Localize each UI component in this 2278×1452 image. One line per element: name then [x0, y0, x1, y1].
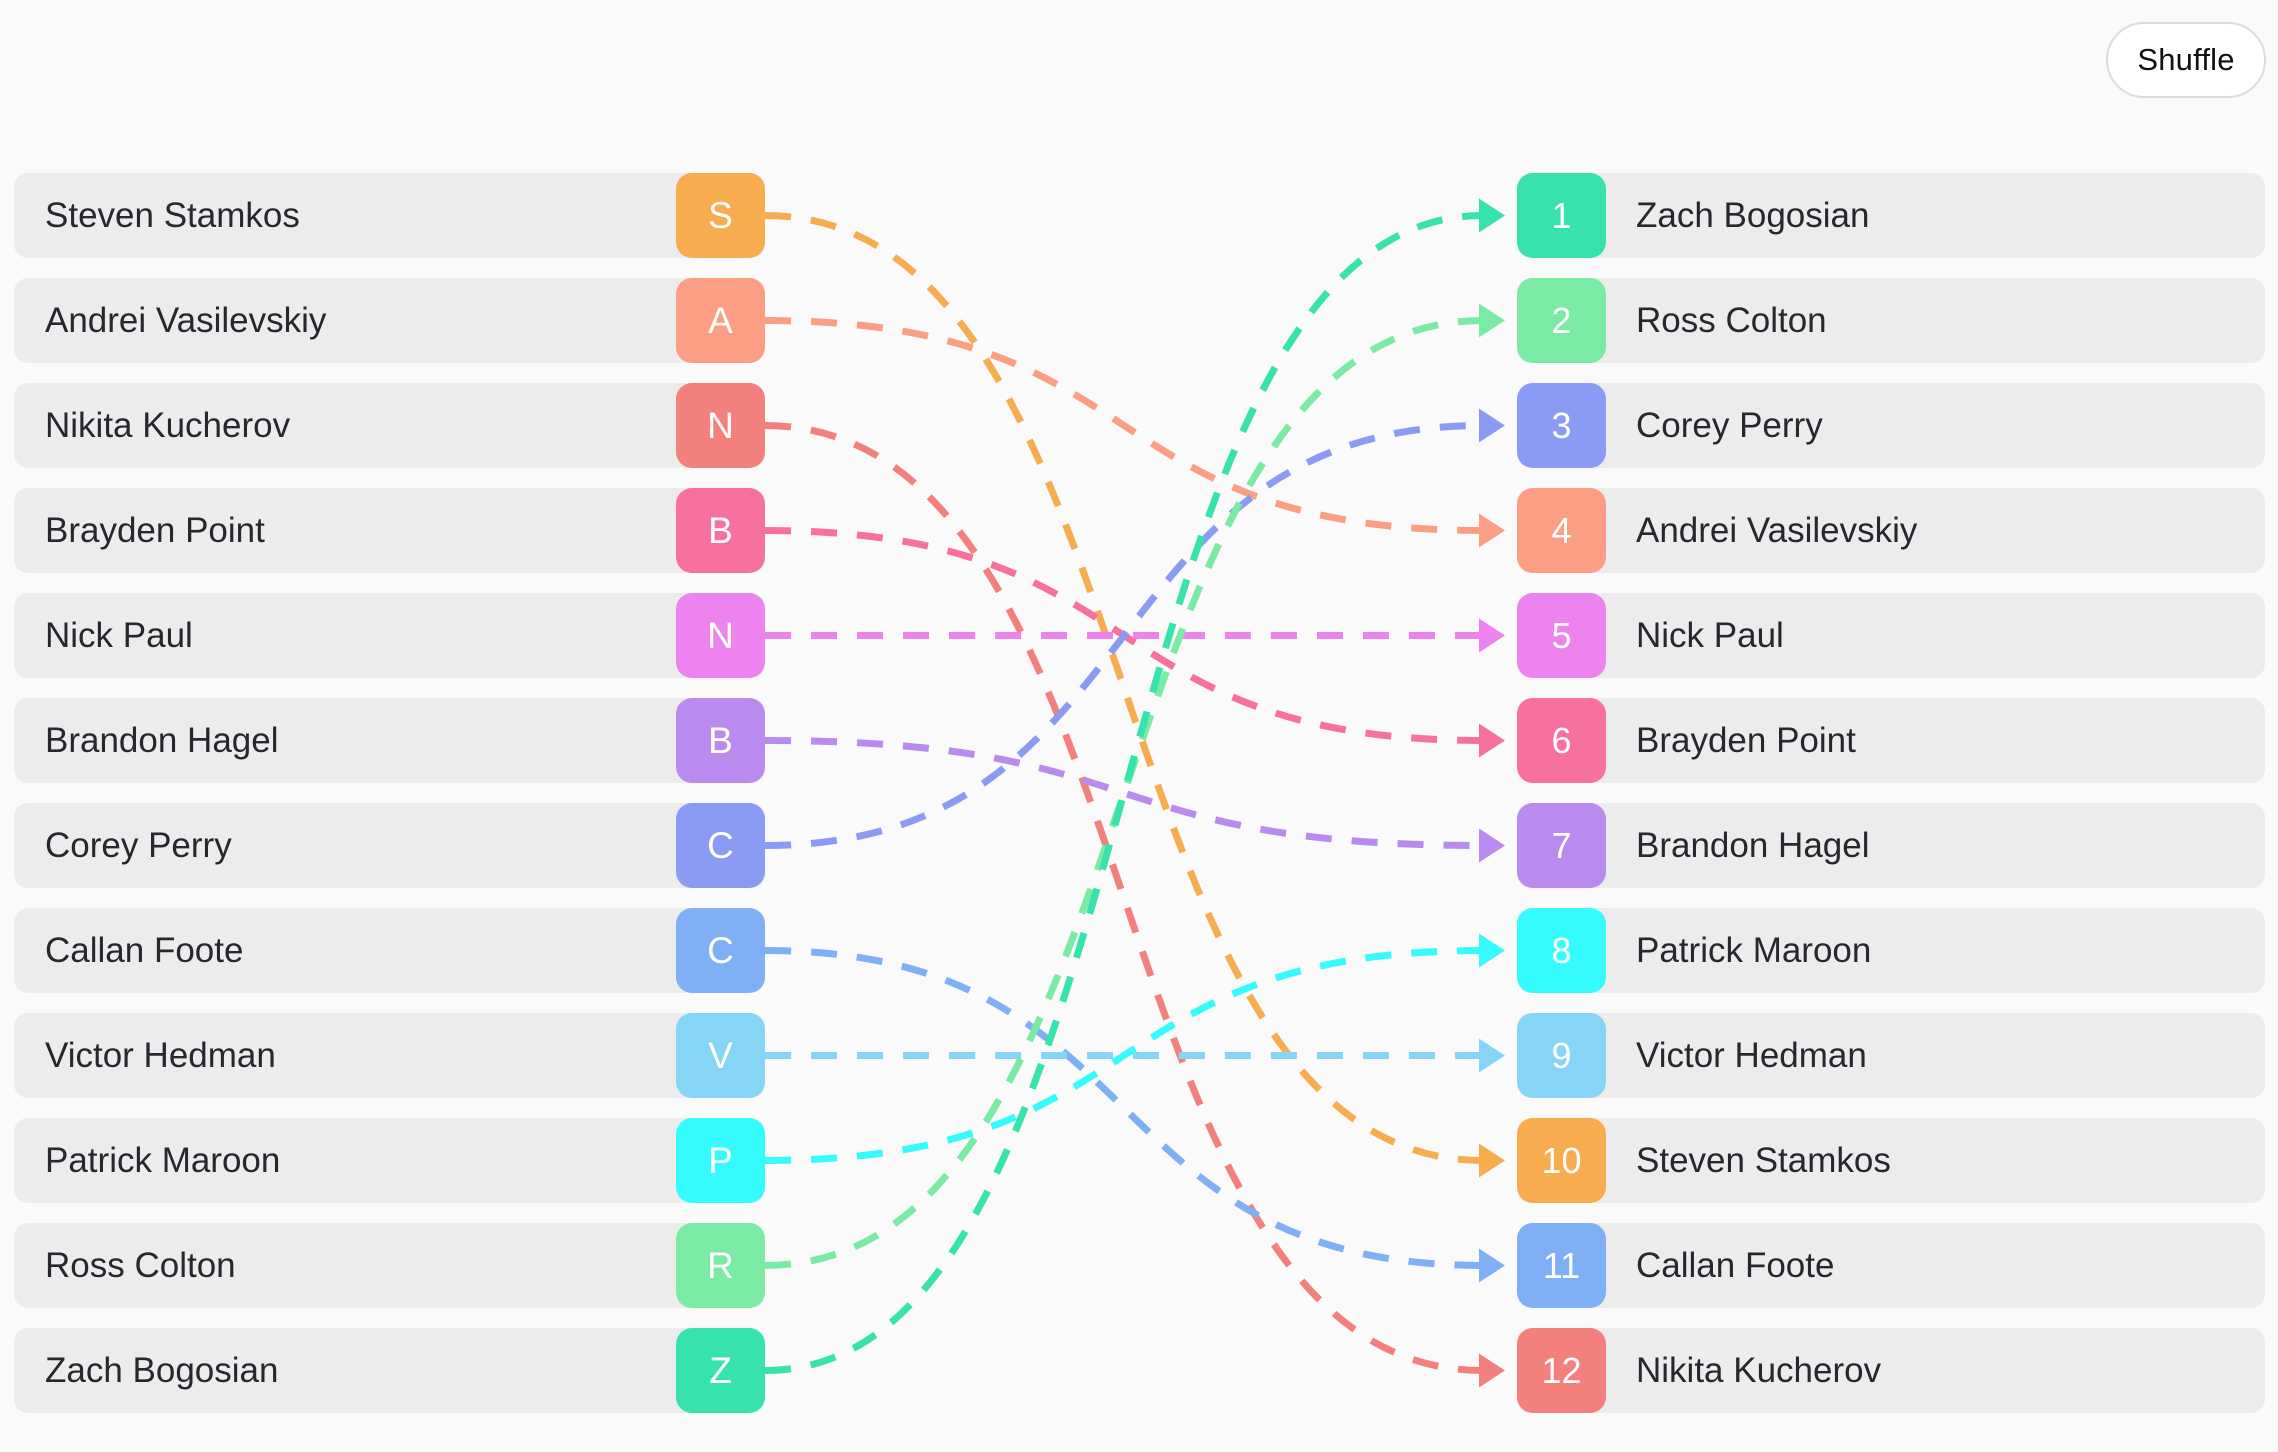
- connector-arrowhead: [1479, 619, 1505, 653]
- left-list-item[interactable]: Ross ColtonR: [14, 1223, 765, 1308]
- connector-arrowhead: [1479, 1354, 1505, 1388]
- left-item-name: Zach Bogosian: [45, 1353, 278, 1388]
- left-item-initial-badge[interactable]: Z: [676, 1328, 765, 1413]
- connector-line: [765, 426, 1483, 1371]
- left-item-initial-badge[interactable]: B: [676, 488, 765, 573]
- connector-arrowhead: [1479, 514, 1505, 548]
- left-item-initial-badge[interactable]: S: [676, 173, 765, 258]
- left-item-initial-badge[interactable]: A: [676, 278, 765, 363]
- left-list-item[interactable]: Brayden PointB: [14, 488, 765, 573]
- left-item-initial-badge[interactable]: V: [676, 1013, 765, 1098]
- right-item-name: Victor Hedman: [1636, 1038, 1867, 1073]
- left-item-name: Brandon Hagel: [45, 723, 279, 758]
- left-item-initial-badge[interactable]: P: [676, 1118, 765, 1203]
- connector-line: [765, 951, 1483, 1161]
- left-list-item[interactable]: Victor HedmanV: [14, 1013, 765, 1098]
- right-slot-list: 1Zach Bogosian2Ross Colton3Corey Perry4A…: [1517, 173, 2265, 1433]
- connector-line: [765, 426, 1483, 846]
- right-item-name: Nick Paul: [1636, 618, 1784, 653]
- right-list-item[interactable]: 11Callan Foote: [1517, 1223, 2265, 1308]
- connector-arrowhead: [1479, 304, 1505, 338]
- connector-line: [765, 951, 1483, 1266]
- connector-line: [765, 216, 1483, 1371]
- left-list-item[interactable]: Brandon HagelB: [14, 698, 765, 783]
- right-item-number-badge[interactable]: 11: [1517, 1223, 1606, 1308]
- left-list-item[interactable]: Steven StamkosS: [14, 173, 765, 258]
- right-list-item[interactable]: 10Steven Stamkos: [1517, 1118, 2265, 1203]
- right-list-item[interactable]: 12Nikita Kucherov: [1517, 1328, 2265, 1413]
- left-item-initial-badge[interactable]: C: [676, 803, 765, 888]
- right-item-name: Corey Perry: [1636, 408, 1823, 443]
- right-item-name: Patrick Maroon: [1636, 933, 1871, 968]
- right-item-name: Nikita Kucherov: [1636, 1353, 1881, 1388]
- left-list-item[interactable]: Zach BogosianZ: [14, 1328, 765, 1413]
- right-item-number-badge[interactable]: 2: [1517, 278, 1606, 363]
- left-item-name: Ross Colton: [45, 1248, 236, 1283]
- right-list-item[interactable]: 3Corey Perry: [1517, 383, 2265, 468]
- left-item-initial-badge[interactable]: C: [676, 908, 765, 993]
- right-item-number-badge[interactable]: 5: [1517, 593, 1606, 678]
- connector-arrowhead: [1479, 199, 1505, 233]
- left-item-name: Andrei Vasilevskiy: [45, 303, 326, 338]
- right-list-item[interactable]: 6Brayden Point: [1517, 698, 2265, 783]
- right-list-item[interactable]: 9Victor Hedman: [1517, 1013, 2265, 1098]
- right-item-name: Brandon Hagel: [1636, 828, 1870, 863]
- right-item-number-badge[interactable]: 3: [1517, 383, 1606, 468]
- matching-board: Shuffle Steven StamkosSAndrei Vasilevski…: [0, 0, 2278, 1452]
- left-item-initial-badge[interactable]: R: [676, 1223, 765, 1308]
- right-list-item[interactable]: 2Ross Colton: [1517, 278, 2265, 363]
- connector-line: [765, 741, 1483, 846]
- right-item-number-badge[interactable]: 7: [1517, 803, 1606, 888]
- right-item-number-badge[interactable]: 4: [1517, 488, 1606, 573]
- connector-arrowhead: [1479, 1039, 1505, 1073]
- left-list-item[interactable]: Corey PerryC: [14, 803, 765, 888]
- left-name-list: Steven StamkosSAndrei VasilevskiyANikita…: [14, 173, 765, 1433]
- shuffle-button[interactable]: Shuffle: [2106, 22, 2266, 98]
- shuffle-button-label: Shuffle: [2137, 42, 2234, 78]
- right-list-item[interactable]: 5Nick Paul: [1517, 593, 2265, 678]
- right-list-item[interactable]: 7Brandon Hagel: [1517, 803, 2265, 888]
- left-item-initial-badge[interactable]: B: [676, 698, 765, 783]
- right-item-name: Steven Stamkos: [1636, 1143, 1891, 1178]
- left-list-item[interactable]: Nick PaulN: [14, 593, 765, 678]
- connector-line: [765, 321, 1483, 1266]
- right-list-item[interactable]: 8Patrick Maroon: [1517, 908, 2265, 993]
- left-item-initial-badge[interactable]: N: [676, 593, 765, 678]
- left-item-name: Patrick Maroon: [45, 1143, 280, 1178]
- connector-arrowhead: [1479, 409, 1505, 443]
- right-item-number-badge[interactable]: 10: [1517, 1118, 1606, 1203]
- right-item-number-badge[interactable]: 1: [1517, 173, 1606, 258]
- left-item-initial-badge[interactable]: N: [676, 383, 765, 468]
- left-item-name: Nikita Kucherov: [45, 408, 290, 443]
- right-list-item[interactable]: 4Andrei Vasilevskiy: [1517, 488, 2265, 573]
- right-list-item[interactable]: 1Zach Bogosian: [1517, 173, 2265, 258]
- left-item-name: Brayden Point: [45, 513, 265, 548]
- connector-line: [765, 216, 1483, 1161]
- left-list-item[interactable]: Patrick MaroonP: [14, 1118, 765, 1203]
- left-list-item[interactable]: Andrei VasilevskiyA: [14, 278, 765, 363]
- connector-arrowhead: [1479, 934, 1505, 968]
- right-item-name: Ross Colton: [1636, 303, 1827, 338]
- right-item-name: Andrei Vasilevskiy: [1636, 513, 1917, 548]
- left-item-name: Steven Stamkos: [45, 198, 300, 233]
- right-item-name: Zach Bogosian: [1636, 198, 1869, 233]
- left-list-item[interactable]: Nikita KucherovN: [14, 383, 765, 468]
- right-item-number-badge[interactable]: 12: [1517, 1328, 1606, 1413]
- connector-line: [765, 321, 1483, 531]
- left-item-name: Nick Paul: [45, 618, 193, 653]
- left-item-name: Corey Perry: [45, 828, 232, 863]
- connector-arrowhead: [1479, 1249, 1505, 1283]
- right-item-number-badge[interactable]: 9: [1517, 1013, 1606, 1098]
- left-list-item[interactable]: Callan FooteC: [14, 908, 765, 993]
- right-item-name: Callan Foote: [1636, 1248, 1834, 1283]
- right-item-number-badge[interactable]: 8: [1517, 908, 1606, 993]
- left-item-name: Callan Foote: [45, 933, 243, 968]
- right-item-number-badge[interactable]: 6: [1517, 698, 1606, 783]
- connector-arrowhead: [1479, 724, 1505, 758]
- right-item-name: Brayden Point: [1636, 723, 1856, 758]
- connector-line: [765, 531, 1483, 741]
- connector-arrowhead: [1479, 829, 1505, 863]
- left-item-name: Victor Hedman: [45, 1038, 276, 1073]
- connector-arrowhead: [1479, 1144, 1505, 1178]
